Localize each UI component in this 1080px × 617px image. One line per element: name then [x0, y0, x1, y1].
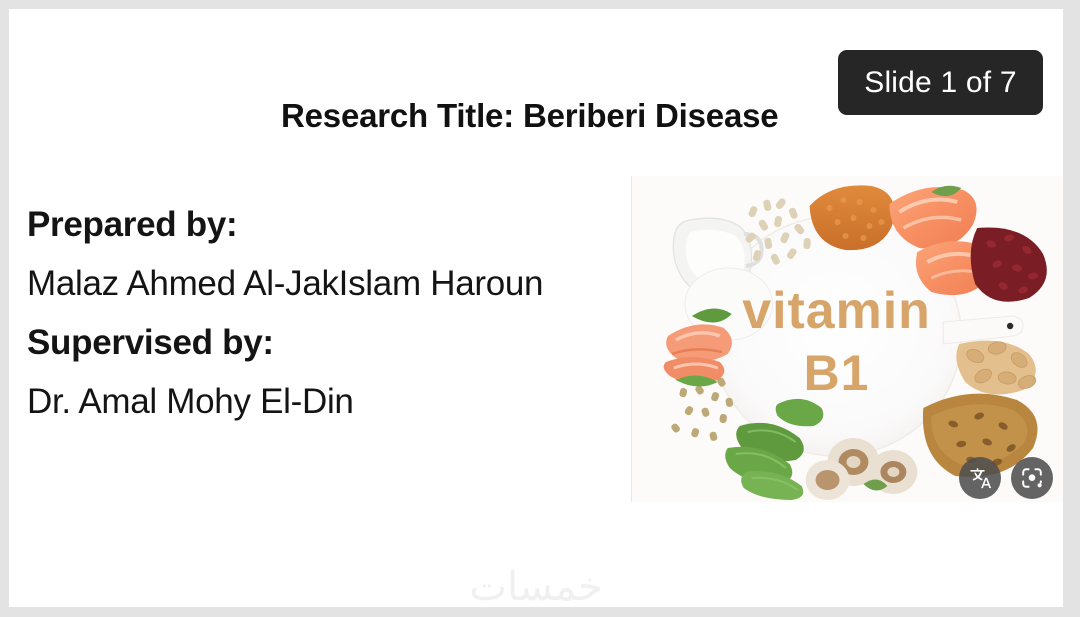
lens-button[interactable]: [1011, 457, 1053, 499]
translate-button[interactable]: [959, 457, 1001, 499]
presenter-info-block: Prepared by: Malaz Ahmed Al-JakIslam Har…: [27, 195, 637, 431]
svg-text:vitamin: vitamin: [742, 282, 931, 340]
prepared-by-label: Prepared by:: [27, 195, 637, 254]
page-title: Research Title: Beriberi Disease: [281, 97, 778, 135]
translate-icon: [968, 466, 992, 490]
image-action-buttons: [959, 457, 1053, 499]
supervised-by-label: Supervised by:: [27, 313, 637, 372]
slide-counter-badge: Slide 1 of 7: [838, 50, 1043, 115]
lens-icon: [1020, 466, 1044, 490]
supervised-by-name: Dr. Amal Mohy El-Din: [27, 372, 637, 431]
slide-counter-text: Slide 1 of 7: [864, 66, 1017, 100]
watermark: خمسات: [9, 564, 1063, 607]
prepared-by-name: Malaz Ahmed Al-JakIslam Haroun: [27, 254, 637, 313]
slide-viewer: Research Title: Beriberi Disease Prepare…: [0, 0, 1080, 617]
svg-text:B1: B1: [804, 345, 870, 401]
vitamin-b1-food-photo[interactable]: vitamin B1: [631, 176, 1063, 502]
